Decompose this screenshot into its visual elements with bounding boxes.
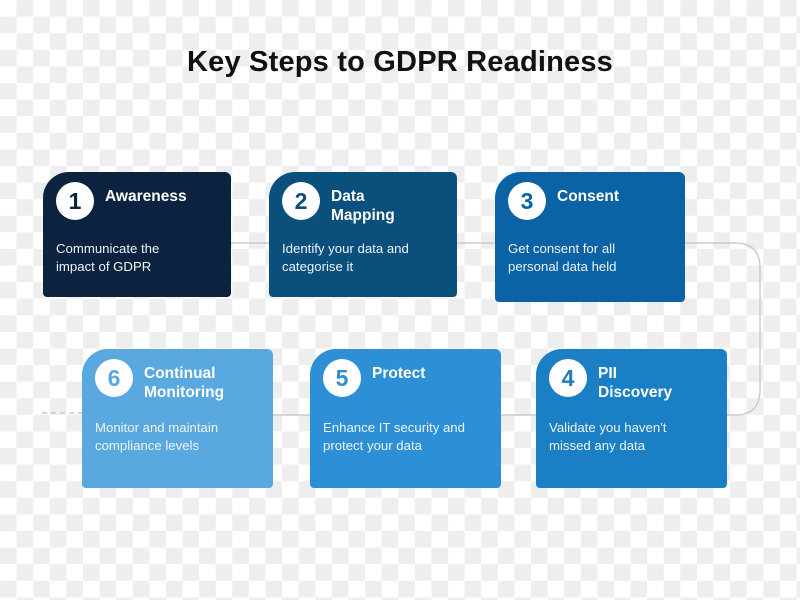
step-title: Awareness xyxy=(105,182,187,206)
card-consent[interactable]: 3ConsentGet consent for all personal dat… xyxy=(495,172,685,302)
step-title: Continual Monitoring xyxy=(144,359,224,403)
step-number-badge: 1 xyxy=(56,182,94,220)
card-continual-monitoring[interactable]: 6Continual MonitoringMonitor and maintai… xyxy=(82,349,273,488)
step-number-badge: 4 xyxy=(549,359,587,397)
card-protect[interactable]: 5ProtectEnhance IT security and protect … xyxy=(310,349,501,488)
step-description: Get consent for all personal data held xyxy=(508,240,673,276)
step-number-badge: 5 xyxy=(323,359,361,397)
step-description: Enhance IT security and protect your dat… xyxy=(323,419,489,455)
step-description: Identify your data and categorise it xyxy=(282,240,445,276)
step-description: Monitor and maintain compliance levels xyxy=(95,419,261,455)
step-header: 4PII Discovery xyxy=(549,359,717,403)
step-description: Communicate the impact of GDPR xyxy=(56,240,219,276)
step-header: 3Consent xyxy=(508,182,675,220)
card-data-mapping[interactable]: 2Data MappingIdentify your data and cate… xyxy=(269,172,457,297)
step-number-badge: 2 xyxy=(282,182,320,220)
page-title: Key Steps to GDPR Readiness xyxy=(0,46,800,79)
step-header: 6Continual Monitoring xyxy=(95,359,263,403)
step-header: 2Data Mapping xyxy=(282,182,447,226)
step-title: Protect xyxy=(372,359,425,383)
card-awareness[interactable]: 1AwarenessCommunicate the impact of GDPR xyxy=(43,172,231,297)
step-title: Consent xyxy=(557,182,619,206)
step-number-badge: 3 xyxy=(508,182,546,220)
step-header: 5Protect xyxy=(323,359,491,397)
step-title: PII Discovery xyxy=(598,359,672,403)
step-number-badge: 6 xyxy=(95,359,133,397)
card-pii-discovery[interactable]: 4PII DiscoveryValidate you haven't misse… xyxy=(536,349,727,488)
step-title: Data Mapping xyxy=(331,182,395,226)
step-header: 1Awareness xyxy=(56,182,221,220)
infographic-canvas: Key Steps to GDPR Readiness 1AwarenessCo… xyxy=(0,0,800,600)
step-description: Validate you haven't missed any data xyxy=(549,419,715,455)
